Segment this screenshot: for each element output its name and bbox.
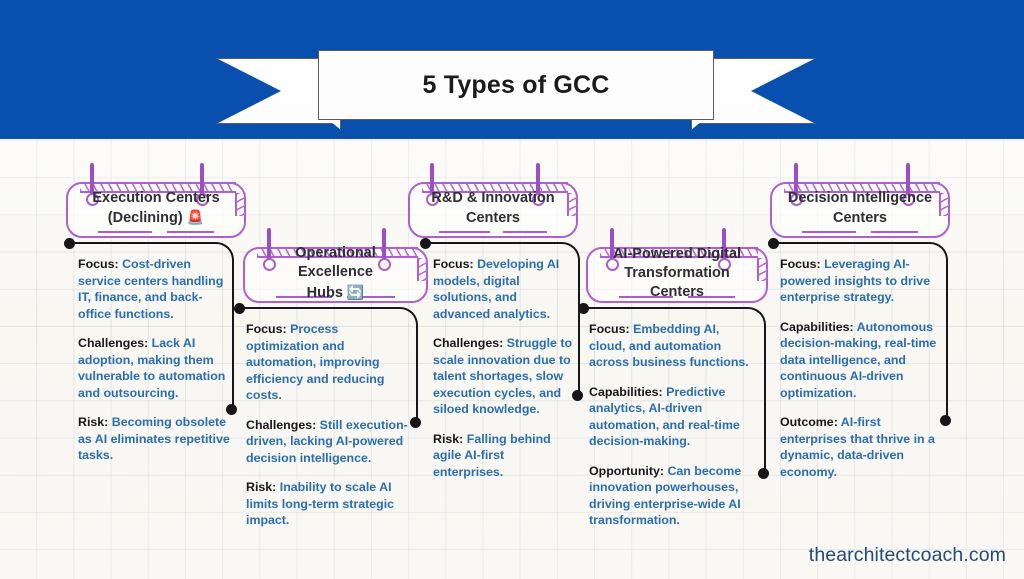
detail-item: Challenges: Still execution-driven, lack… xyxy=(246,417,409,467)
connector-horizontal xyxy=(773,242,930,244)
card-title: Decision Intelligence Centers xyxy=(770,163,950,238)
connector-horizontal xyxy=(239,307,400,309)
details-execution-centers: Focus: Cost-driven service centers handl… xyxy=(78,256,233,464)
detail-item: Opportunity: Can become innovation power… xyxy=(589,463,756,529)
detail-label: Capabilities: xyxy=(780,320,854,334)
card-title-line1: Execution Centers xyxy=(92,190,219,206)
card-title-line1: AI-Powered Digital xyxy=(613,246,741,262)
card-title: Operational Excellence Hubs 🔄 xyxy=(243,228,428,303)
detail-label: Risk: xyxy=(78,415,108,429)
details-rd-innovation-centers: Focus: Developing AI models, digital sol… xyxy=(433,256,573,480)
detail-label: Outcome: xyxy=(780,415,838,429)
detail-label: Focus: xyxy=(433,257,474,271)
details-ai-powered-digital-transformation-centers: Focus: Embedding AI, cloud, and automati… xyxy=(589,321,756,529)
card-title-line1: R&D & Innovation xyxy=(431,190,554,206)
ribbon-plate: 5 Types of GCC xyxy=(318,50,714,120)
card-execution-centers[interactable]: Execution Centers (Declining) 🚨 xyxy=(66,163,246,238)
card-title-line2: Centers xyxy=(466,210,520,226)
card-title: AI-Powered Digital Transformation Center… xyxy=(586,228,768,303)
detail-item: Focus: Process optimization and automati… xyxy=(246,321,409,404)
detail-item: Focus: Developing AI models, digital sol… xyxy=(433,256,573,322)
detail-item: Risk: Inability to scale AI limits long-… xyxy=(246,479,409,529)
connector-vertical xyxy=(416,326,418,422)
card-title: Execution Centers (Declining) 🚨 xyxy=(66,163,246,238)
connector-horizontal xyxy=(69,242,216,244)
detail-label: Challenges: xyxy=(78,336,148,350)
card-decision-intelligence-centers[interactable]: Decision Intelligence Centers xyxy=(770,163,950,238)
detail-item: Risk: Becoming obsolete as AI eliminates… xyxy=(78,414,233,464)
connector-horizontal xyxy=(425,242,562,244)
detail-item: Challenges: Struggle to scale innovation… xyxy=(433,335,573,418)
details-decision-intelligence-centers: Focus: Leveraging AI-powered insights to… xyxy=(780,256,945,480)
detail-label: Focus: xyxy=(780,257,821,271)
detail-item: Capabilities: Predictive analytics, AI-d… xyxy=(589,384,756,450)
connector-end-dot xyxy=(410,417,421,428)
connector-start-dot xyxy=(578,303,589,314)
ribbon-banner: 5 Types of GCC xyxy=(216,50,816,134)
watermark: thearchitectcoach.com xyxy=(809,544,1006,567)
detail-item: Outcome: AI-first enterprises that thriv… xyxy=(780,414,945,480)
connector-start-dot xyxy=(768,238,779,249)
card-title-line2: Hubs xyxy=(307,285,343,301)
connector-vertical xyxy=(946,261,948,420)
counterclockwise-arrows-icon: 🔄 xyxy=(347,284,364,300)
detail-label: Focus: xyxy=(78,257,119,271)
detail-label: Risk: xyxy=(433,432,463,446)
card-title-line2: Centers xyxy=(833,210,887,226)
details-operational-excellence-hubs: Focus: Process optimization and automati… xyxy=(246,321,409,529)
card-operational-excellence-hubs[interactable]: Operational Excellence Hubs 🔄 xyxy=(243,228,428,303)
detail-label: Focus: xyxy=(589,322,630,336)
card-title-line2: Transformation Centers xyxy=(624,265,730,300)
header-band: 5 Types of GCC xyxy=(0,0,1024,139)
card-title: R&D & Innovation Centers xyxy=(408,163,578,238)
police-car-light-icon: 🚨 xyxy=(187,209,204,225)
detail-item: Focus: Embedding AI, cloud, and automati… xyxy=(589,321,756,371)
detail-label: Risk: xyxy=(246,480,276,494)
detail-item: Focus: Cost-driven service centers handl… xyxy=(78,256,233,322)
connector-start-dot xyxy=(64,238,75,249)
detail-label: Challenges: xyxy=(246,418,316,432)
detail-item: Challenges: Lack AI adoption, making the… xyxy=(78,335,233,401)
card-rd-innovation-centers[interactable]: R&D & Innovation Centers xyxy=(408,163,578,238)
connector-end-dot xyxy=(758,468,769,479)
detail-item: Risk: Falling behind agile AI-first ente… xyxy=(433,431,573,481)
card-title-line1: Operational Excellence xyxy=(295,245,376,280)
connector-start-dot xyxy=(234,303,245,314)
card-ai-powered-digital-transformation-centers[interactable]: AI-Powered Digital Transformation Center… xyxy=(586,228,768,303)
card-title-line1: Decision Intelligence xyxy=(788,190,932,206)
infographic-page: 5 Types of GCC xyxy=(0,0,1024,579)
page-title: 5 Types of GCC xyxy=(422,71,609,100)
connector-horizontal xyxy=(583,307,748,309)
detail-label: Focus: xyxy=(246,322,287,336)
detail-label: Capabilities: xyxy=(589,385,663,399)
detail-label: Opportunity: xyxy=(589,464,664,478)
detail-label: Challenges: xyxy=(433,336,503,350)
detail-item: Focus: Leveraging AI-powered insights to… xyxy=(780,256,945,306)
card-title-line2: (Declining) xyxy=(108,210,183,226)
detail-item: Capabilities: Autonomous decision-making… xyxy=(780,319,945,402)
connector-vertical xyxy=(764,326,766,473)
